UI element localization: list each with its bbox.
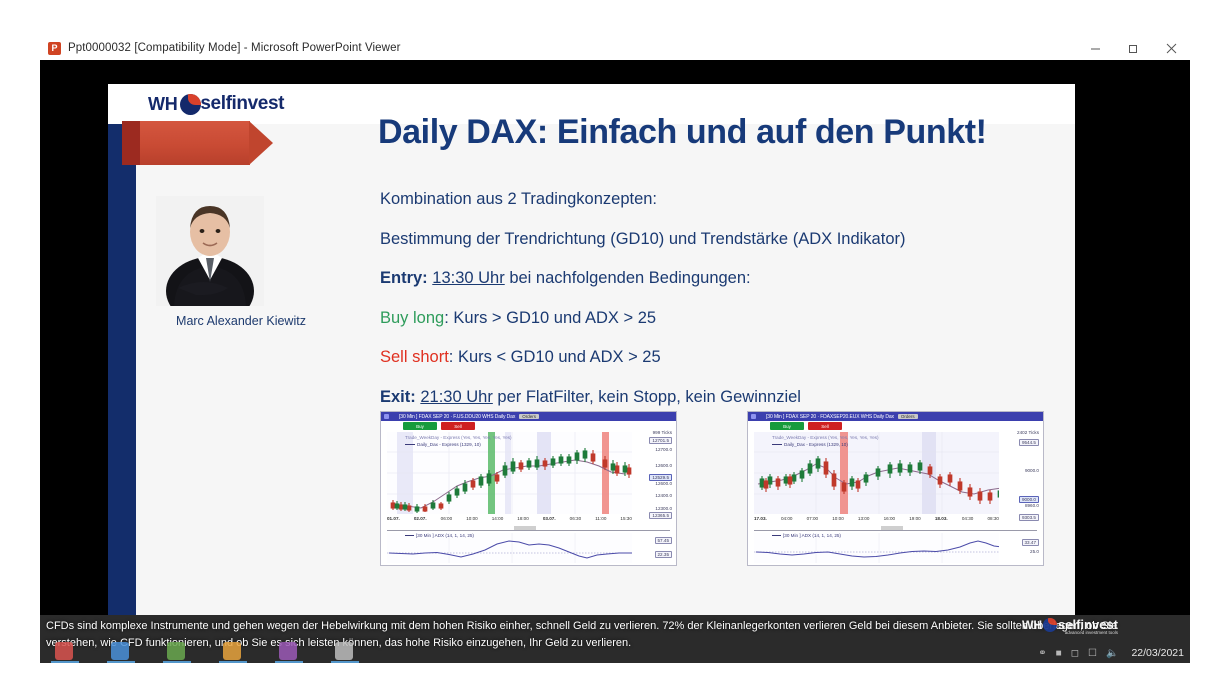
taskbar-clock[interactable]: 22/03/2021 bbox=[1131, 647, 1184, 659]
notification-icon[interactable]: ☐ bbox=[1088, 648, 1097, 659]
chart-left-sell-button[interactable]: Sell bbox=[441, 422, 475, 430]
restore-icon[interactable] bbox=[1114, 36, 1152, 60]
chart-right-x-1: 04:00 bbox=[781, 516, 793, 524]
chart-left-y-2: 12600.0 bbox=[655, 463, 672, 468]
entry-time: 13:30 Uhr bbox=[432, 269, 504, 287]
buy-long-rule: : Kurs > GD10 und ADX > 25 bbox=[444, 309, 656, 327]
chart-right-x-0: 17.03. bbox=[754, 516, 767, 524]
chart-left-adx-dash-icon bbox=[405, 535, 414, 536]
chart-left-x-7: 06:30 bbox=[570, 516, 582, 524]
chart-left-legend-dash-icon bbox=[405, 444, 415, 445]
chart-left-x-3: 10:00 bbox=[466, 516, 478, 524]
chart-left-x-0: 01.07. bbox=[387, 516, 400, 524]
chart-right-scrollbar[interactable] bbox=[754, 526, 1037, 531]
chart-right-x-6: 19:00 bbox=[909, 516, 921, 524]
chart-right-legend-line-2: Daily_Dax - Express (1329, 10) bbox=[784, 442, 848, 447]
chart-left-y-highlight: 12529.5 bbox=[649, 474, 672, 481]
selfinvest-mark-icon bbox=[180, 94, 201, 115]
chart-right-scroll-thumb[interactable] bbox=[881, 526, 903, 530]
chart-right-x-7: 18.03. bbox=[935, 516, 948, 524]
chart-left-ticks-label: 999 Ticks bbox=[653, 430, 672, 435]
chart-left-price-axis: 999 Ticks 12701.5 12700.0 12600.0 12529.… bbox=[632, 430, 674, 516]
chart-right-y-highlight-sub: 9000.0 bbox=[1019, 496, 1039, 503]
chart-left-adx-text: [30 Min ] ADX (14, 1, 14, 25) bbox=[416, 533, 474, 538]
chart-right-x-5: 16:00 bbox=[884, 516, 896, 524]
chart-left-legend-line-2: Daily_Dax - Express (1329, 10) bbox=[417, 442, 481, 447]
powerpoint-icon: P bbox=[48, 42, 61, 55]
entry-rest: bei nachfolgenden Bedingungen: bbox=[505, 269, 751, 287]
screen: P Ppt0000032 [Compatibility Mode] - Micr… bbox=[0, 0, 1231, 688]
buy-long-label: Buy long bbox=[380, 309, 444, 327]
chart-right-header-text: [30 Min ] FDAX SEP 20 · FDAXSEP20.EUX WH… bbox=[766, 414, 894, 420]
taskbar-app-2[interactable] bbox=[104, 639, 138, 663]
chart-left-x-2: 06:00 bbox=[441, 516, 453, 524]
watermark-wh-text: WH bbox=[1022, 618, 1042, 632]
title-arrow-graphic bbox=[122, 121, 277, 165]
chart-right-price-axis: 2402 Ticks 9544.5 9000.0 9000.0 8960.0 9… bbox=[999, 430, 1041, 516]
exit-rest: per FlatFilter, kein Stopp, kein Gewinnz… bbox=[493, 388, 801, 406]
battery-icon[interactable]: ■ bbox=[1056, 648, 1062, 659]
exit-time: 21:30 Uhr bbox=[420, 388, 492, 406]
volume-icon[interactable]: 🔈 bbox=[1106, 648, 1118, 659]
chart-left-orders-badge: Orders bbox=[519, 414, 539, 419]
entry-label: Entry: bbox=[380, 269, 428, 287]
chart-right-ticks-label: 2402 Ticks bbox=[1017, 430, 1039, 435]
chart-screenshots: [30 Min ] FDAX SEP 20 · F.US.DDU20 WHS D… bbox=[380, 411, 1060, 566]
chart-right-adx-value-1: 33.47 bbox=[1022, 539, 1040, 546]
chart-left-adx-axis: 57.45 22.35 bbox=[632, 532, 674, 564]
chart-left-y-bottom-sub: 12300.0 bbox=[655, 506, 672, 511]
taskbar-app-1[interactable] bbox=[48, 639, 82, 663]
chart-left-x-6: 03.07. bbox=[543, 516, 556, 524]
chart-right-adx-value-2: 25.0 bbox=[1030, 549, 1039, 554]
body-line-4: Buy long: Kurs > GD10 und ADX > 25 bbox=[380, 310, 1060, 327]
chart-left-x-8: 11:00 bbox=[595, 516, 606, 524]
slide-left-band bbox=[108, 84, 136, 629]
chart-left-adx-value-2: 22.35 bbox=[655, 551, 673, 558]
chart-right-buy-button[interactable]: Buy bbox=[770, 422, 804, 430]
body-line-2: Bestimmung der Trendrichtung (GD10) und … bbox=[380, 231, 1060, 248]
taskbar: CFDs sind komplexe Instrumente und gehen… bbox=[40, 615, 1190, 663]
body-line-3: Entry: 13:30 Uhr bei nachfolgenden Bedin… bbox=[380, 270, 1060, 287]
chart-left-adx-label: [30 Min ] ADX (14, 1, 14, 25) bbox=[405, 533, 474, 538]
chart-left-scrollbar[interactable] bbox=[387, 526, 670, 531]
chart-left-y-1: 12700.0 bbox=[655, 447, 672, 452]
chart-right-legend-dash-icon bbox=[772, 444, 782, 445]
watermark-subtitle: advanced investment tools bbox=[1065, 630, 1118, 635]
network-icon[interactable]: ⚭ bbox=[1038, 648, 1046, 659]
chart-left-header-dot-icon bbox=[384, 414, 389, 419]
wh-selfinvest-logo: WH selfinvest bbox=[148, 90, 284, 118]
chart-right-x-8: 04:30 bbox=[962, 516, 974, 524]
body-line-1: Kombination aus 2 Tradingkonzepten: bbox=[380, 191, 1060, 208]
chart-left-legend-line-1: Trade_WeekDay - Express (Yes, Yes, Yes, … bbox=[405, 435, 512, 440]
slide-title: Daily DAX: Einfach und auf den Punkt! bbox=[378, 114, 1058, 151]
taskbar-app-4[interactable] bbox=[216, 639, 250, 663]
chart-right-time-axis: 17.03. 04:00 07:00 10:00 13:00 16:00 19:… bbox=[754, 516, 999, 524]
chart-right-x-4: 13:00 bbox=[858, 516, 870, 524]
logo-selfinvest-text: selfinvest bbox=[200, 93, 284, 115]
taskbar-app-6[interactable] bbox=[328, 639, 362, 663]
body-line-1-text: Kombination aus 2 Tradingkonzepten: bbox=[380, 190, 657, 208]
chart-right-x-9: 08:30 bbox=[987, 516, 999, 524]
body-line-5: Sell short: Kurs < GD10 und ADX > 25 bbox=[380, 349, 1060, 366]
chart-right-orders-badge: Orders bbox=[898, 414, 918, 419]
chart-left-x-9: 15:30 bbox=[620, 516, 632, 524]
powerpoint-viewer-window: P Ppt0000032 [Compatibility Mode] - Micr… bbox=[40, 36, 1190, 640]
chart-right-adx-axis: 33.47 25.0 bbox=[999, 532, 1041, 564]
chart-left-y-top: 12701.5 bbox=[649, 437, 672, 444]
slide-body: Kombination aus 2 Tradingkonzepten: Best… bbox=[380, 191, 1060, 428]
chart-right-sell-button[interactable]: Sell bbox=[808, 422, 842, 430]
chart-left-time-axis: 01.07. 02.07. 06:00 10:00 14:00 18:00 03… bbox=[387, 516, 632, 524]
chart-left: [30 Min ] FDAX SEP 20 · F.US.DDU20 WHS D… bbox=[380, 411, 677, 566]
chart-right-adx-label: [30 Min ] ADX (14, 1, 14, 25) bbox=[772, 533, 841, 538]
presenter-photo bbox=[156, 196, 264, 306]
chart-right-legend-line-1: Trade_WeekDay - Express (Yes, Yes, Yes, … bbox=[772, 435, 879, 440]
exit-label: Exit: bbox=[380, 388, 416, 406]
chart-right-header-dot-icon bbox=[751, 414, 756, 419]
slide-viewport[interactable]: WH selfinvest Daily DAX: Einfach und auf… bbox=[40, 60, 1190, 640]
body-line-2-text: Bestimmung der Trendrichtung (GD10) und … bbox=[380, 230, 905, 248]
presenter-name: Marc Alexander Kiewitz bbox=[146, 314, 336, 328]
taskbar-app-3[interactable] bbox=[160, 639, 194, 663]
chart-left-y-3: 12400.0 bbox=[655, 493, 672, 498]
window-title: Ppt0000032 [Compatibility Mode] - Micros… bbox=[68, 42, 401, 54]
chart-right-legend: Trade_WeekDay - Express (Yes, Yes, Yes, … bbox=[772, 434, 879, 448]
chart-right-y-bottom: 9303.5 bbox=[1019, 514, 1039, 521]
chart-left-y-highlight-sub: 12600.0 bbox=[655, 481, 672, 486]
chart-left-header: [30 Min ] FDAX SEP 20 · F.US.DDU20 WHS D… bbox=[381, 412, 676, 421]
taskbar-app-5[interactable] bbox=[272, 639, 306, 663]
chart-left-legend: Trade_WeekDay - Express (Yes, Yes, Yes, … bbox=[405, 434, 512, 448]
chart-right-x-2: 07:00 bbox=[807, 516, 819, 524]
chart-right-header: [30 Min ] FDAX SEP 20 · FDAXSEP20.EUX WH… bbox=[748, 412, 1043, 421]
sell-short-label: Sell short bbox=[380, 348, 449, 366]
chart-right-y-top: 9544.5 bbox=[1019, 439, 1039, 446]
close-icon[interactable] bbox=[1152, 36, 1190, 60]
window-controls bbox=[1076, 36, 1190, 60]
chart-left-adx-value-1: 57.45 bbox=[655, 537, 673, 544]
chart-left-x-1: 02.07. bbox=[414, 516, 427, 524]
chart-left-y-bottom: 12365.5 bbox=[649, 512, 672, 519]
chart-left-trade-buttons: Buy Sell bbox=[403, 422, 475, 430]
system-tray: ⚭ ■ ◻ ☐ 🔈 22/03/2021 bbox=[1038, 647, 1184, 659]
chart-right: [30 Min ] FDAX SEP 20 · FDAXSEP20.EUX WH… bbox=[747, 411, 1044, 566]
chart-left-x-4: 14:00 bbox=[492, 516, 504, 524]
chart-right-y-highlight: 8960.0 bbox=[1025, 503, 1039, 508]
chart-left-scroll-thumb[interactable] bbox=[514, 526, 536, 530]
slide-canvas: WH selfinvest Daily DAX: Einfach und auf… bbox=[108, 84, 1075, 629]
chart-right-adx-text: [30 Min ] ADX (14, 1, 14, 25) bbox=[783, 533, 841, 538]
body-line-6: Exit: 21:30 Uhr per FlatFilter, kein Sto… bbox=[380, 389, 1060, 406]
taskbar-app-buttons bbox=[48, 637, 362, 663]
display-icon[interactable]: ◻ bbox=[1071, 648, 1079, 659]
chart-right-adx-dash-icon bbox=[772, 535, 781, 536]
chart-right-y-2: 9000.0 bbox=[1025, 468, 1039, 473]
chart-left-buy-button[interactable]: Buy bbox=[403, 422, 437, 430]
chart-left-header-text: [30 Min ] FDAX SEP 20 · F.US.DDU20 WHS D… bbox=[399, 414, 515, 420]
sell-short-rule: : Kurs < GD10 und ADX > 25 bbox=[449, 348, 661, 366]
chart-left-x-5: 18:00 bbox=[517, 516, 529, 524]
logo-wh-text: WH bbox=[148, 94, 177, 115]
chart-right-x-3: 10:00 bbox=[832, 516, 844, 524]
minimize-icon[interactable] bbox=[1076, 36, 1114, 60]
window-titlebar: P Ppt0000032 [Compatibility Mode] - Micr… bbox=[40, 36, 1190, 60]
watermark-mark-icon bbox=[1043, 618, 1057, 632]
chart-right-trade-buttons: Buy Sell bbox=[770, 422, 842, 430]
